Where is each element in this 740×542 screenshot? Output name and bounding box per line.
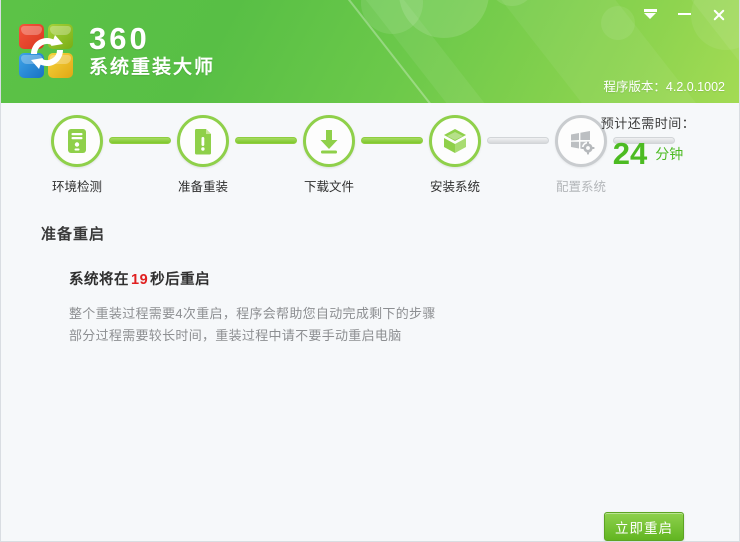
eta-panel: 预计还需时间： 24分钟	[573, 113, 723, 170]
header-bokeh-circle	[489, 0, 535, 6]
step-env-check-label: 环境检测	[52, 176, 102, 195]
download-arrow-icon	[316, 127, 342, 155]
header-bokeh-circle	[361, 0, 423, 34]
eta-value: 24分钟	[573, 138, 723, 170]
reboot-description: 整个重装过程需要4次重启，程序会帮助您自动完成剩下的步骤 部分过程需要较长时间，…	[69, 303, 739, 347]
brand-logo: 360 系统重装大师	[19, 24, 215, 80]
progress-steps-bar: 环境检测 准备重装	[1, 103, 739, 203]
brand-title: 360	[89, 24, 215, 54]
eta-label: 预计还需时间：	[573, 113, 723, 132]
header-bokeh-circle	[601, 6, 635, 40]
main-content: 准备重启 系统将在19秒后重启 整个重装过程需要4次重启，程序会帮助您自动完成剩…	[1, 223, 739, 347]
version-label: 程序版本：4.2.0.1002	[603, 76, 725, 95]
install-box-icon	[441, 127, 469, 155]
countdown-suffix: 秒后重启	[150, 272, 210, 288]
countdown-prefix: 系统将在	[69, 272, 129, 288]
title-bar: 360 系统重装大师 程序版本：4.2.0.1002	[1, 0, 739, 103]
page-title: 准备重启	[41, 223, 739, 244]
countdown-seconds: 19	[129, 272, 150, 288]
minimize-icon	[678, 13, 691, 15]
window-controls	[635, 0, 733, 28]
header-bokeh-circle	[399, 0, 489, 38]
step-download-files[interactable]: 下载文件	[299, 115, 359, 195]
step-prepare-reinstall[interactable]: 准备重装	[173, 115, 233, 195]
reboot-now-button[interactable]: 立即重启	[604, 512, 684, 541]
app-window: 360 系统重装大师 程序版本：4.2.0.1002 环境检测	[0, 0, 740, 542]
step-install-system-label: 安装系统	[430, 176, 480, 195]
step-env-check-circle	[51, 115, 103, 167]
step-install-system[interactable]: 安装系统	[425, 115, 485, 195]
step-configure-system-label: 配置系统	[556, 176, 606, 195]
step-download-files-label: 下载文件	[304, 176, 354, 195]
collapse-menu-icon	[644, 9, 657, 19]
reboot-description-line2: 部分过程需要较长时间，重装过程中请不要手动重启电脑	[69, 325, 739, 347]
step-download-files-circle	[303, 115, 355, 167]
eta-unit: 分钟	[655, 146, 683, 162]
reboot-description-line1: 整个重装过程需要4次重启，程序会帮助您自动完成剩下的步骤	[69, 303, 739, 325]
close-button[interactable]	[703, 2, 733, 26]
header-light-streak	[319, 0, 546, 103]
document-alert-icon	[190, 127, 216, 155]
360-logo-icon	[19, 24, 75, 80]
action-bar: 立即重启	[1, 455, 739, 541]
reboot-countdown: 系统将在19秒后重启	[69, 268, 739, 289]
brand-subtitle: 系统重装大师	[89, 56, 215, 80]
collapse-menu-button[interactable]	[635, 2, 665, 26]
refresh-arrows-icon	[26, 31, 68, 73]
step-install-system-circle	[429, 115, 481, 167]
step-connector-3	[361, 137, 423, 144]
close-icon	[712, 8, 725, 21]
header-light-streak	[301, 0, 506, 103]
step-connector-2	[235, 137, 297, 144]
step-connector-1	[109, 137, 171, 144]
eta-minutes: 24	[613, 136, 647, 171]
desktop-tower-icon	[64, 127, 90, 155]
step-connector-4	[487, 137, 549, 144]
step-prepare-reinstall-label: 准备重装	[178, 176, 228, 195]
step-prepare-reinstall-circle	[177, 115, 229, 167]
step-env-check[interactable]: 环境检测	[47, 115, 107, 195]
minimize-button[interactable]	[669, 2, 699, 26]
